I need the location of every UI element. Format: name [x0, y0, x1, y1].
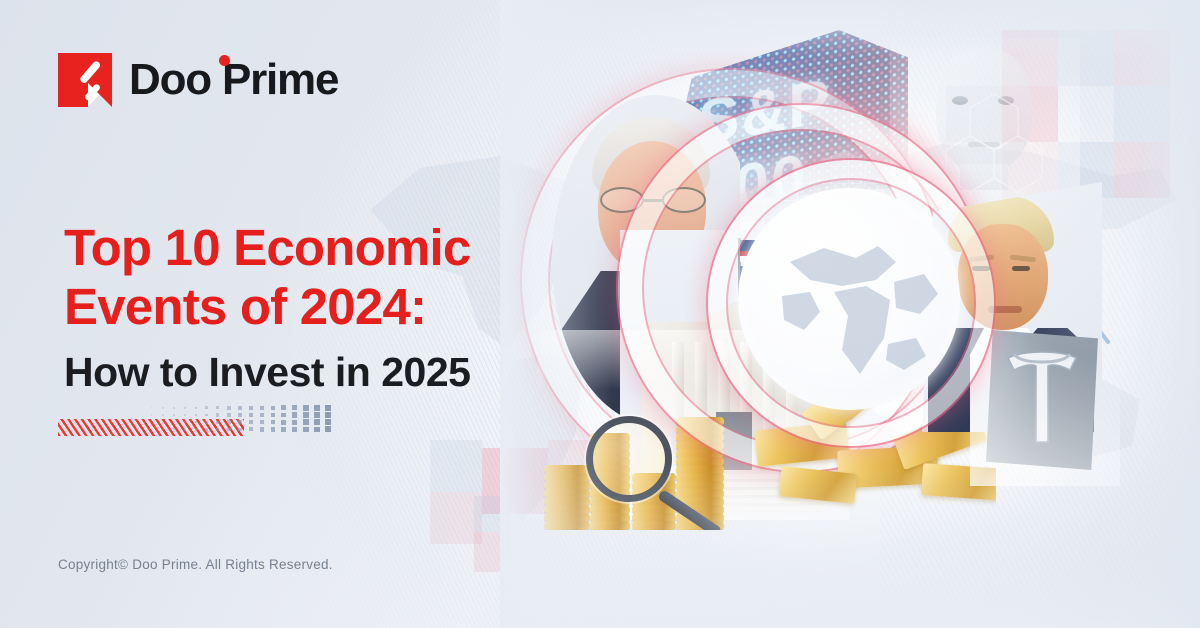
- divider-dot: [325, 412, 331, 418]
- divider-dot: [325, 419, 331, 425]
- divider-dot: [173, 428, 175, 430]
- divider-dot: [227, 420, 230, 423]
- divider-dot: [195, 428, 198, 431]
- divider-dot: [271, 420, 276, 425]
- divider-dot: [281, 427, 286, 432]
- divider-dot: [249, 406, 253, 410]
- divider-dot: [184, 414, 186, 416]
- divider-dot: [303, 419, 308, 424]
- divider-dot: [216, 421, 219, 424]
- divider-dot: [292, 420, 297, 425]
- divider-dot: [227, 413, 230, 416]
- divider-dot: [151, 407, 152, 408]
- divider-dot-grid: [146, 402, 334, 430]
- divider-dot: [292, 412, 297, 417]
- divider-dot: [227, 406, 230, 409]
- divider-dot: [314, 412, 320, 418]
- divider-dot: [249, 420, 253, 424]
- divider-dot: [260, 413, 264, 417]
- divider-dot: [271, 413, 276, 418]
- divider-dot: [260, 420, 264, 424]
- deco-square: [430, 440, 482, 492]
- collage-composition: S&P 500: [500, 0, 1200, 628]
- divider-dot: [184, 407, 186, 409]
- divider-dot: [249, 427, 253, 431]
- divider-dot: [151, 414, 152, 415]
- divider-dot: [216, 428, 219, 431]
- divider-dot: [151, 422, 152, 423]
- divider-dot: [314, 419, 320, 425]
- divider-dot: [281, 405, 286, 410]
- divider-dot: [216, 406, 219, 409]
- divider-dot: [195, 414, 198, 417]
- divider-dot: [184, 428, 186, 430]
- brand-logo[interactable]: Doo Prime: [58, 53, 338, 107]
- headline-line-2: Events of 2024:: [64, 277, 584, 336]
- divider-dot: [238, 420, 242, 424]
- divider-dot: [314, 405, 320, 411]
- divider-dot: [173, 407, 175, 409]
- divider-dot: [325, 405, 331, 411]
- divider-dot: [281, 413, 286, 418]
- divider-dot: [205, 428, 208, 431]
- divider-dot: [205, 406, 208, 409]
- divider-dot: [162, 421, 164, 423]
- decorative-divider: [58, 402, 334, 436]
- divider-dot: [249, 413, 253, 417]
- divider-dot: [195, 407, 198, 410]
- tesla-logo: [970, 296, 1120, 486]
- divider-dot: [151, 429, 152, 430]
- divider-dot: [173, 414, 175, 416]
- divider-dot: [260, 427, 264, 431]
- divider-dot: [162, 429, 164, 431]
- divider-dot: [162, 407, 164, 409]
- divider-dot: [238, 406, 242, 410]
- divider-dot: [162, 414, 164, 416]
- divider-dot: [271, 406, 276, 411]
- divider-dot: [205, 414, 208, 417]
- divider-dot: [281, 420, 286, 425]
- divider-dot: [173, 421, 175, 423]
- globe-sphere: [738, 188, 960, 410]
- divider-dot: [303, 427, 308, 432]
- divider-dot: [303, 412, 308, 417]
- copyright-text: Copyright© Doo Prime. All Rights Reserve…: [58, 557, 333, 572]
- divider-dot: [184, 421, 186, 423]
- divider-dot: [195, 421, 198, 424]
- headline-line-1: Top 10 Economic: [64, 218, 584, 277]
- divider-dot: [292, 405, 297, 410]
- divider-dot: [314, 427, 320, 433]
- divider-dot: [238, 413, 242, 417]
- divider-dot: [205, 421, 208, 424]
- divider-dot: [303, 405, 308, 410]
- divider-dot: [292, 427, 297, 432]
- page-subtitle: How to Invest in 2025: [64, 348, 584, 397]
- divider-dot: [260, 406, 264, 410]
- logo-accent-dot-icon: [219, 55, 230, 66]
- divider-dot: [216, 413, 219, 416]
- brand-name: Doo Prime: [129, 58, 338, 102]
- divider-dot: [271, 427, 276, 432]
- divider-dot: [325, 426, 331, 432]
- divider-dot: [227, 428, 230, 431]
- divider-dot: [238, 428, 242, 432]
- page-title: Top 10 Economic Events of 2024:: [64, 218, 584, 336]
- doo-prime-logo-mark-icon: [58, 53, 112, 107]
- poster-stage: S&P 500: [0, 0, 1200, 628]
